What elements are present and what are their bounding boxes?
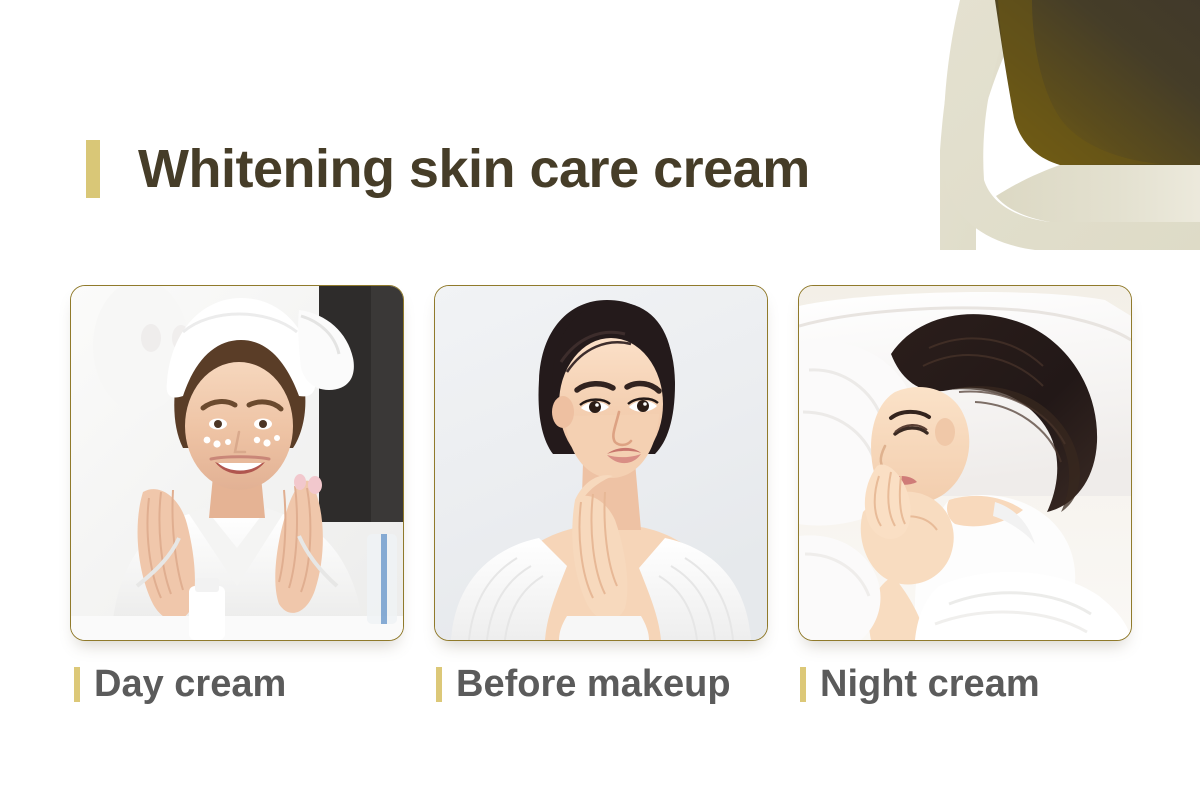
caption-before-makeup: Before makeup xyxy=(436,660,731,708)
caption-day-cream: Day cream xyxy=(74,660,286,708)
photo-before-makeup xyxy=(435,286,767,640)
page-title: Whitening skin care cream xyxy=(86,131,810,207)
caption-row: Day cream Before makeup Night cream xyxy=(70,660,1132,716)
caption-label: Day cream xyxy=(94,665,286,703)
title-accent-bar xyxy=(86,140,100,198)
caption-accent-bar xyxy=(436,667,442,702)
caption-label: Night cream xyxy=(820,665,1040,703)
card-night-cream[interactable] xyxy=(798,285,1132,641)
card-day-cream[interactable] xyxy=(70,285,404,641)
corner-decoration xyxy=(940,0,1200,250)
card-gallery xyxy=(70,285,1132,639)
page-title-text: Whitening skin care cream xyxy=(138,142,810,196)
caption-accent-bar xyxy=(74,667,80,702)
slide-canvas: Whitening skin care cream xyxy=(0,0,1200,812)
caption-accent-bar xyxy=(800,667,806,702)
photo-day-cream xyxy=(71,286,403,640)
caption-night-cream: Night cream xyxy=(800,660,1040,708)
card-before-makeup[interactable] xyxy=(434,285,768,641)
photo-night-cream xyxy=(799,286,1131,640)
caption-label: Before makeup xyxy=(456,665,731,703)
